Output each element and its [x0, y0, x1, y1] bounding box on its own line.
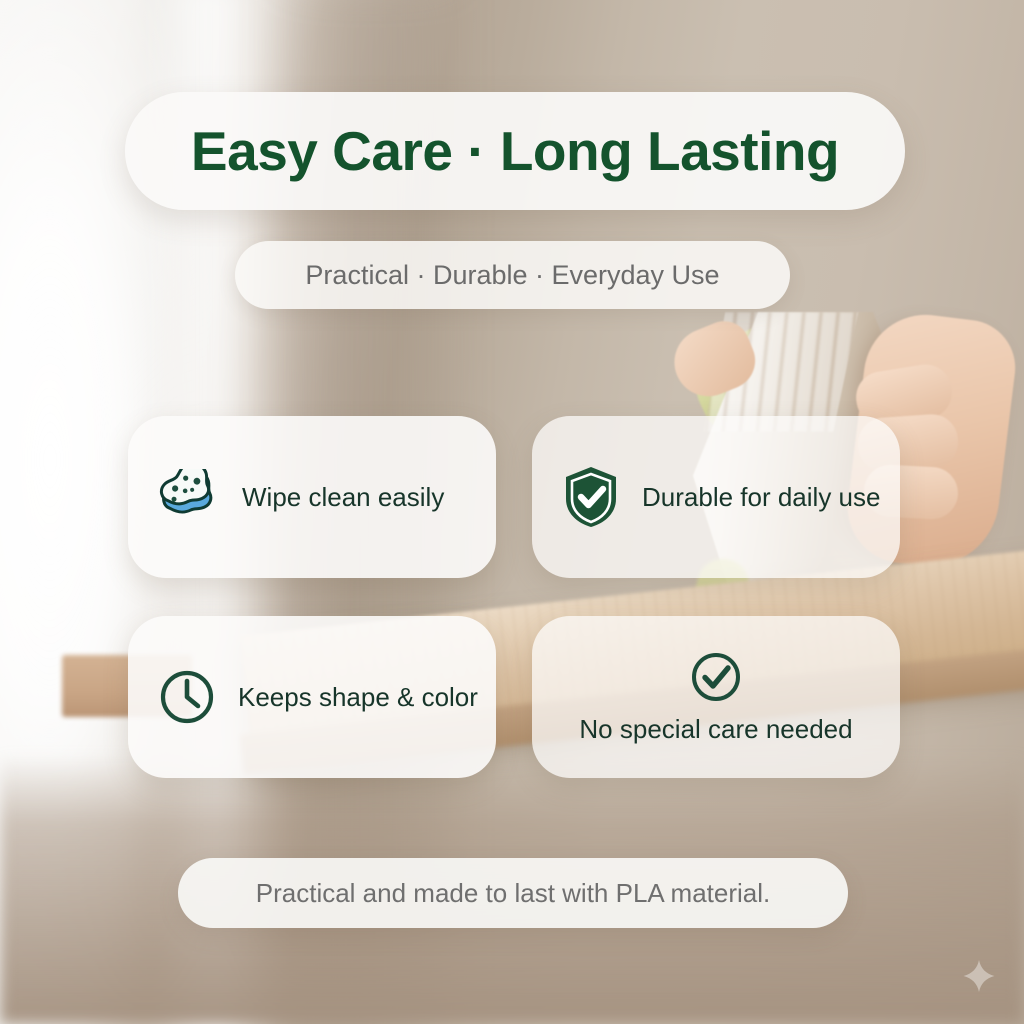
sponge-icon [158, 469, 220, 525]
clock-icon [158, 668, 216, 726]
footer-note: Practical and made to last with PLA mate… [178, 858, 848, 928]
footer-note-text: Practical and made to last with PLA mate… [256, 878, 770, 909]
check-circle-icon [689, 650, 743, 704]
content-stage: Easy Care · Long Lasting Practical · Dur… [0, 0, 1024, 1024]
feature-label: No special care needed [579, 714, 852, 745]
page-title-text: Easy Care · Long Lasting [191, 119, 839, 183]
page-subtitle: Practical · Durable · Everyday Use [235, 241, 790, 309]
feature-label: Keeps shape & color [238, 682, 478, 713]
feature-grid: Wipe clean easily Durable for daily use [128, 416, 900, 778]
page-title: Easy Care · Long Lasting [125, 92, 905, 210]
feature-label: Durable for daily use [642, 482, 880, 513]
page-subtitle-text: Practical · Durable · Everyday Use [305, 260, 719, 291]
feature-card-wipe-clean[interactable]: Wipe clean easily [128, 416, 496, 578]
feature-label: Wipe clean easily [242, 482, 444, 513]
feature-card-no-special-care[interactable]: No special care needed [532, 616, 900, 778]
feature-card-keeps-shape[interactable]: Keeps shape & color [128, 616, 496, 778]
feature-card-durable[interactable]: Durable for daily use [532, 416, 900, 578]
sparkle-icon [962, 959, 996, 998]
shield-check-icon [562, 465, 620, 529]
